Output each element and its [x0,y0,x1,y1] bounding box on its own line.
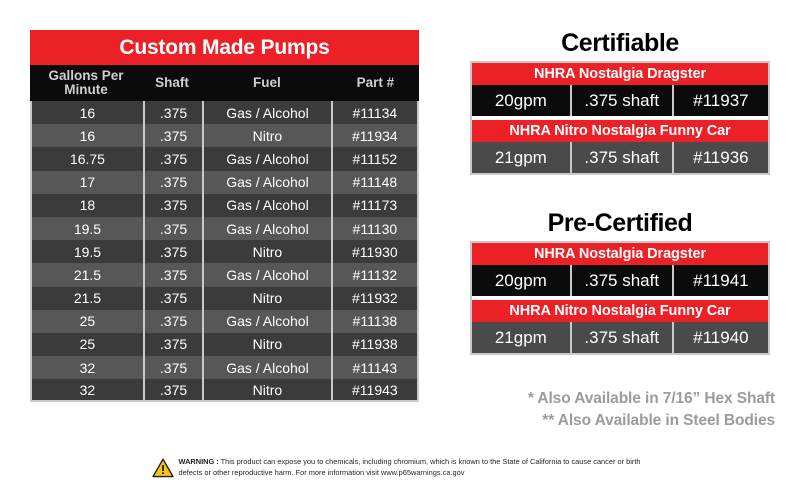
warning-triangle-icon [152,458,174,478]
certifiable-row-funny-car: 21gpm .375 shaft #11936 [472,142,768,173]
custom-made-pumps-table: Custom Made Pumps Gallons Per Minute Sha… [30,30,419,402]
cell-gpm: 25 [32,310,143,333]
cell-gpm: 18 [32,194,143,217]
cell-shaft: .375 [143,379,202,400]
cell-gpm: 25 [32,333,143,356]
certifiable-title: Certifiable [470,28,770,61]
precertified-row-dragster: 20gpm .375 shaft #11941 [472,265,768,296]
precertified-funny-car-gpm: 21gpm [472,322,570,353]
column-header-gallons-per-minute: Gallons Per Minute [30,65,142,101]
warning-body: This product can expose you to chemicals… [179,457,641,477]
precertified-title: Pre-Certified [470,208,770,241]
cell-part: #11943 [331,379,417,400]
cell-gpm: 19.5 [32,240,143,263]
cell-gpm: 16 [32,101,143,124]
cell-shaft: .375 [143,124,202,147]
certifiable-category-dragster: NHRA Nostalgia Dragster [472,63,768,85]
table-row: 32.375Nitro#11943 [30,379,419,402]
cell-shaft: .375 [143,101,202,124]
cell-gpm: 21.5 [32,287,143,310]
certifiable-funny-car-shaft: .375 shaft [570,142,672,173]
cell-shaft: .375 [143,240,202,263]
footnotes: * Also Available in 7/16” Hex Shaft ** A… [470,388,775,433]
table-row: 18.375Gas / Alcohol#11173 [30,194,419,217]
cell-gpm: 16.75 [32,147,143,170]
cell-fuel: Nitro [202,124,331,147]
cell-fuel: Gas / Alcohol [202,356,331,379]
precertified-panel: Pre-Certified NHRA Nostalgia Dragster 20… [470,208,770,355]
cell-fuel: Gas / Alcohol [202,263,331,286]
warning-label: WARNING : [179,457,219,466]
precertified-funny-car-shaft: .375 shaft [570,322,672,353]
cell-fuel: Nitro [202,240,331,263]
cell-part: #11143 [331,356,417,379]
cell-part: #11938 [331,333,417,356]
cell-gpm: 19.5 [32,217,143,240]
table-row: 32.375Gas / Alcohol#11143 [30,356,419,379]
table-row: 21.5.375Nitro#11932 [30,287,419,310]
cell-gpm: 17 [32,171,143,194]
certifiable-category-funny-car: NHRA Nitro Nostalgia Funny Car [472,120,768,142]
cell-shaft: .375 [143,171,202,194]
cell-fuel: Gas / Alcohol [202,217,331,240]
prop65-warning: WARNING : This product can expose you to… [0,457,800,478]
main-table-title: Custom Made Pumps [30,30,419,65]
cell-fuel: Nitro [202,287,331,310]
cell-shaft: .375 [143,194,202,217]
cell-shaft: .375 [143,287,202,310]
cell-shaft: .375 [143,356,202,379]
cell-shaft: .375 [143,333,202,356]
precertified-table: NHRA Nostalgia Dragster 20gpm .375 shaft… [470,241,770,355]
cell-part: #11932 [331,287,417,310]
cell-shaft: .375 [143,147,202,170]
precertified-dragster-part: #11941 [672,265,768,296]
cell-part: #11930 [331,240,417,263]
cell-shaft: .375 [143,217,202,240]
cell-gpm: 32 [32,356,143,379]
cell-fuel: Nitro [202,379,331,400]
cell-fuel: Gas / Alcohol [202,171,331,194]
cell-part: #11152 [331,147,417,170]
cell-part: #11138 [331,310,417,333]
precertified-dragster-gpm: 20gpm [472,265,570,296]
cell-fuel: Nitro [202,333,331,356]
table-row: 25.375Gas / Alcohol#11138 [30,310,419,333]
cell-shaft: .375 [143,263,202,286]
cell-fuel: Gas / Alcohol [202,194,331,217]
cell-fuel: Gas / Alcohol [202,101,331,124]
precertified-category-funny-car: NHRA Nitro Nostalgia Funny Car [472,300,768,322]
table-row: 25.375Nitro#11938 [30,333,419,356]
table-row: 19.5.375Nitro#11930 [30,240,419,263]
cell-part: #11134 [331,101,417,124]
column-header-shaft: Shaft [142,65,202,101]
certifiable-row-dragster: 20gpm .375 shaft #11937 [472,85,768,116]
cell-part: #11148 [331,171,417,194]
column-header-part-number: Part # [332,65,419,101]
cell-gpm: 16 [32,124,143,147]
certifiable-dragster-shaft: .375 shaft [570,85,672,116]
main-table-header-row: Gallons Per Minute Shaft Fuel Part # [30,65,419,101]
precertified-dragster-shaft: .375 shaft [570,265,672,296]
cell-gpm: 32 [32,379,143,400]
column-header-fuel: Fuel [202,65,332,101]
footnote-steel-bodies: ** Also Available in Steel Bodies [470,410,775,432]
cell-part: #11173 [331,194,417,217]
certifiable-funny-car-gpm: 21gpm [472,142,570,173]
certifiable-funny-car-part: #11936 [672,142,768,173]
certifiable-dragster-gpm: 20gpm [472,85,570,116]
footnote-hex-shaft: * Also Available in 7/16” Hex Shaft [470,388,775,410]
precertified-category-dragster: NHRA Nostalgia Dragster [472,243,768,265]
precertified-funny-car-part: #11940 [672,322,768,353]
precertified-row-funny-car: 21gpm .375 shaft #11940 [472,322,768,353]
table-row: 19.5.375Gas / Alcohol#11130 [30,217,419,240]
table-row: 17.375Gas / Alcohol#11148 [30,171,419,194]
table-row: 21.5.375Gas / Alcohol#11132 [30,263,419,286]
warning-text: WARNING : This product can expose you to… [179,457,649,478]
cell-part: #11130 [331,217,417,240]
main-table-body: 16.375Gas / Alcohol#1113416.375Nitro#119… [30,101,419,402]
certifiable-table: NHRA Nostalgia Dragster 20gpm .375 shaft… [470,61,770,175]
cell-gpm: 21.5 [32,263,143,286]
table-row: 16.75.375Gas / Alcohol#11152 [30,147,419,170]
table-row: 16.375Gas / Alcohol#11134 [30,101,419,124]
table-row: 16.375Nitro#11934 [30,124,419,147]
cell-part: #11934 [331,124,417,147]
certifiable-dragster-part: #11937 [672,85,768,116]
cell-shaft: .375 [143,310,202,333]
cell-part: #11132 [331,263,417,286]
certifiable-panel: Certifiable NHRA Nostalgia Dragster 20gp… [470,28,770,175]
cell-fuel: Gas / Alcohol [202,310,331,333]
cell-fuel: Gas / Alcohol [202,147,331,170]
